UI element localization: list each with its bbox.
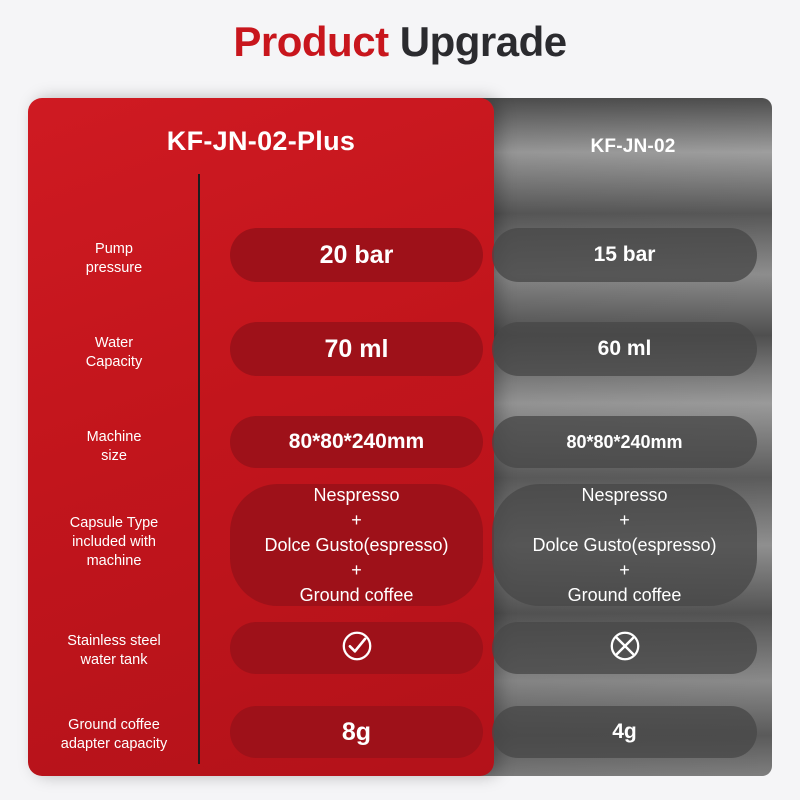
- page-title-rest: Upgrade: [389, 18, 567, 65]
- right-value-text: 15 bar: [492, 243, 757, 267]
- right-value-pill: 4g: [492, 706, 757, 758]
- row-label: Ground coffee adapter capacity: [34, 716, 194, 754]
- table-row: Capsule Type included with machine Nespr…: [28, 484, 772, 610]
- right-value-text: 80*80*240mm: [492, 432, 757, 453]
- left-value-pill: 70 ml: [230, 322, 483, 376]
- row-label: Stainless steel water tank: [34, 632, 194, 670]
- table-row: Ground coffee adapter capacity 8g 4g: [28, 706, 772, 768]
- left-column-header: KF-JN-02-Plus: [28, 126, 494, 157]
- left-value-pill: 20 bar: [230, 228, 483, 282]
- page-title: Product Upgrade: [0, 18, 800, 66]
- left-value-text: 80*80*240mm: [230, 430, 483, 454]
- page-title-accent: Product: [233, 18, 388, 65]
- left-value-text: 20 bar: [230, 241, 483, 270]
- left-value-pill: 8g: [230, 706, 483, 758]
- left-value-pill: [230, 622, 483, 674]
- row-label: Machine size: [34, 428, 194, 466]
- left-value-text: 70 ml: [230, 335, 483, 364]
- row-label: Pump pressure: [34, 240, 194, 278]
- left-value-text: Nespresso + Dolce Gusto(espresso) + Grou…: [230, 483, 483, 608]
- right-value-text: Nespresso + Dolce Gusto(espresso) + Grou…: [492, 483, 757, 608]
- comparison-card: KF-JN-02-Plus KF-JN-02 Pump pressure 20 …: [28, 98, 772, 776]
- right-value-pill: 15 bar: [492, 228, 757, 282]
- right-column-header: KF-JN-02: [494, 136, 772, 158]
- table-row: Water Capacity 70 ml 60 ml: [28, 322, 772, 386]
- left-value-text: 8g: [230, 718, 483, 747]
- row-label: Capsule Type included with machine: [34, 514, 194, 571]
- table-row: Stainless steel water tank: [28, 622, 772, 684]
- product-comparison-page: Product Upgrade KF-JN-02-Plus KF-JN-02 P…: [0, 0, 800, 800]
- right-value-pill: 60 ml: [492, 322, 757, 376]
- right-value-pill: 80*80*240mm: [492, 416, 757, 468]
- table-row: Machine size 80*80*240mm 80*80*240mm: [28, 416, 772, 480]
- left-value-pill: 80*80*240mm: [230, 416, 483, 468]
- right-value-pill: Nespresso + Dolce Gusto(espresso) + Grou…: [492, 484, 757, 606]
- left-value-pill: Nespresso + Dolce Gusto(espresso) + Grou…: [230, 484, 483, 606]
- right-value-text: 4g: [492, 720, 757, 744]
- right-value-pill: [492, 622, 757, 674]
- check-circle-icon: [340, 629, 374, 668]
- right-value-text: 60 ml: [492, 337, 757, 361]
- cross-circle-icon: [608, 629, 642, 668]
- row-label: Water Capacity: [34, 334, 194, 372]
- table-row: Pump pressure 20 bar 15 bar: [28, 228, 772, 292]
